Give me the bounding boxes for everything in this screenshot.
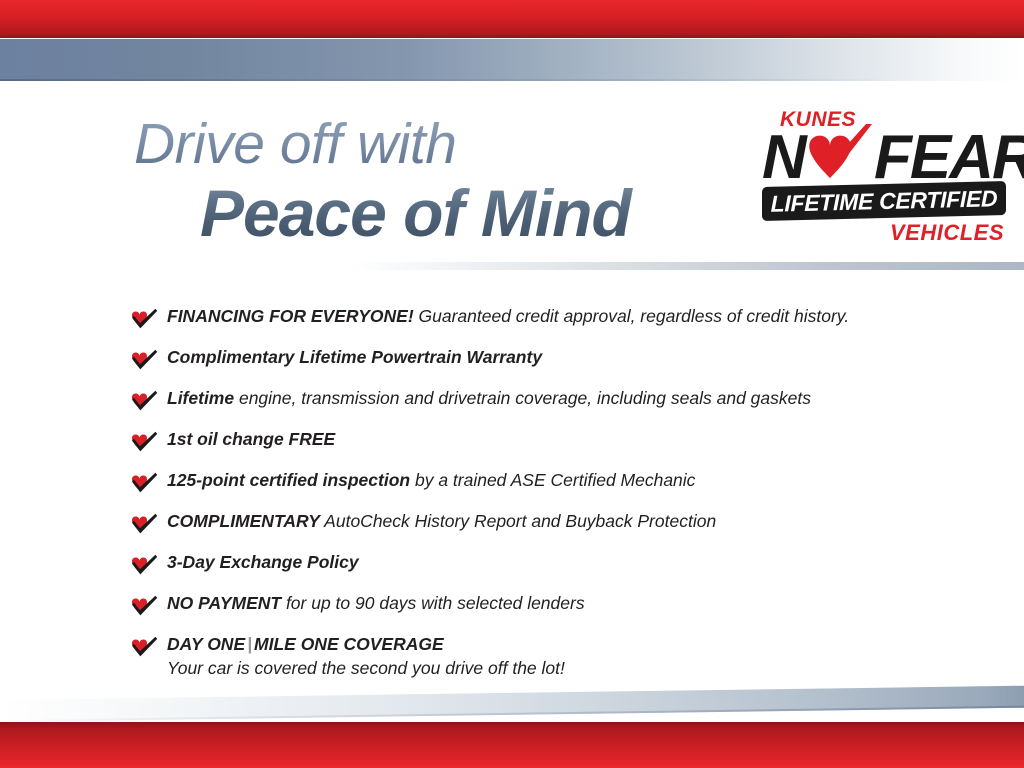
feature-emphasis: Complimentary Lifetime Powertrain Warran… (167, 347, 542, 367)
feature-item: Complimentary Lifetime Powertrain Warran… (130, 347, 930, 379)
heart-check-bullet-icon (130, 308, 158, 332)
feature-emphasis: NO PAYMENT (167, 593, 281, 613)
top-gray-band (0, 39, 1024, 81)
feature-emphasis: 125-point certified inspection (167, 470, 410, 490)
feature-subtext: Your car is covered the second you drive… (167, 657, 930, 681)
feature-item: NO PAYMENT for up to 90 days with select… (130, 593, 930, 625)
feature-detail: by a trained ASE Certified Mechanic (410, 470, 695, 490)
feature-emphasis: DAY ONE (167, 634, 245, 654)
headline-divider (350, 262, 1024, 270)
feature-text: DAY ONE|MILE ONE COVERAGE (167, 634, 930, 655)
heart-check-bullet-icon (130, 472, 158, 496)
feature-item: 3-Day Exchange Policy (130, 552, 930, 584)
heart-check-bullet-icon (130, 513, 158, 537)
feature-item: FINANCING FOR EVERYONE! Guaranteed credi… (130, 306, 930, 338)
logo-no-fear-wordmark: N FEAR (762, 128, 1010, 188)
feature-text: COMPLIMENTARY AutoCheck History Report a… (167, 511, 930, 532)
feature-detail: engine, transmission and drivetrain cove… (234, 388, 811, 408)
feature-text: NO PAYMENT for up to 90 days with select… (167, 593, 930, 614)
logo-letter-n: N (762, 128, 805, 188)
promotional-poster: Drive off with Peace of Mind KUNES N FEA… (0, 0, 1024, 768)
feature-text: 3-Day Exchange Policy (167, 552, 930, 573)
headline-line-2: Peace of Mind (200, 179, 734, 248)
headline-block: Drive off with Peace of Mind (134, 116, 734, 248)
feature-item: DAY ONE|MILE ONE COVERAGEYour car is cov… (130, 634, 930, 681)
bottom-red-band (0, 722, 1024, 768)
kunes-no-fear-logo: KUNES N FEAR LIFETIME CERTIFIED VEHICLES (758, 108, 1010, 248)
feature-item: 125-point certified inspection by a trai… (130, 470, 930, 502)
feature-emphasis-2: MILE ONE COVERAGE (254, 634, 444, 654)
feature-text: Complimentary Lifetime Powertrain Warran… (167, 347, 930, 368)
feature-detail: for up to 90 days with selected lenders (281, 593, 585, 613)
feature-text: FINANCING FOR EVERYONE! Guaranteed credi… (167, 306, 930, 327)
feature-item: 1st oil change FREE (130, 429, 930, 461)
logo-lifetime-certified-banner: LIFETIME CERTIFIED (762, 181, 1006, 221)
heart-check-bullet-icon (130, 636, 158, 660)
heart-check-bullet-icon (130, 390, 158, 414)
heart-check-bullet-icon (130, 554, 158, 578)
logo-word-vehicles: VEHICLES (890, 220, 1004, 246)
feature-text: Lifetime engine, transmission and drivet… (167, 388, 930, 409)
features-list: FINANCING FOR EVERYONE! Guaranteed credi… (130, 306, 930, 690)
heart-check-bullet-icon (130, 349, 158, 373)
feature-emphasis: COMPLIMENTARY (167, 511, 320, 531)
feature-emphasis: Lifetime (167, 388, 234, 408)
heart-check-bullet-icon (130, 431, 158, 455)
feature-item: COMPLIMENTARY AutoCheck History Report a… (130, 511, 930, 543)
bottom-gray-band (0, 686, 1024, 722)
feature-separator: | (245, 634, 254, 654)
feature-item: Lifetime engine, transmission and drivet… (130, 388, 930, 420)
logo-lifetime-certified-text: LIFETIME CERTIFIED (762, 181, 1006, 221)
feature-emphasis: 1st oil change FREE (167, 429, 335, 449)
feature-emphasis: FINANCING FOR EVERYONE! (167, 306, 414, 326)
top-red-band (0, 0, 1024, 38)
feature-text: 125-point certified inspection by a trai… (167, 470, 930, 491)
feature-text: 1st oil change FREE (167, 429, 930, 450)
heart-check-bullet-icon (130, 595, 158, 619)
feature-emphasis: 3-Day Exchange Policy (167, 552, 359, 572)
feature-detail: Guaranteed credit approval, regardless o… (414, 306, 849, 326)
feature-detail: AutoCheck History Report and Buyback Pro… (320, 511, 716, 531)
logo-word-fear: FEAR (874, 128, 1024, 188)
headline-line-1: Drive off with (134, 116, 734, 173)
